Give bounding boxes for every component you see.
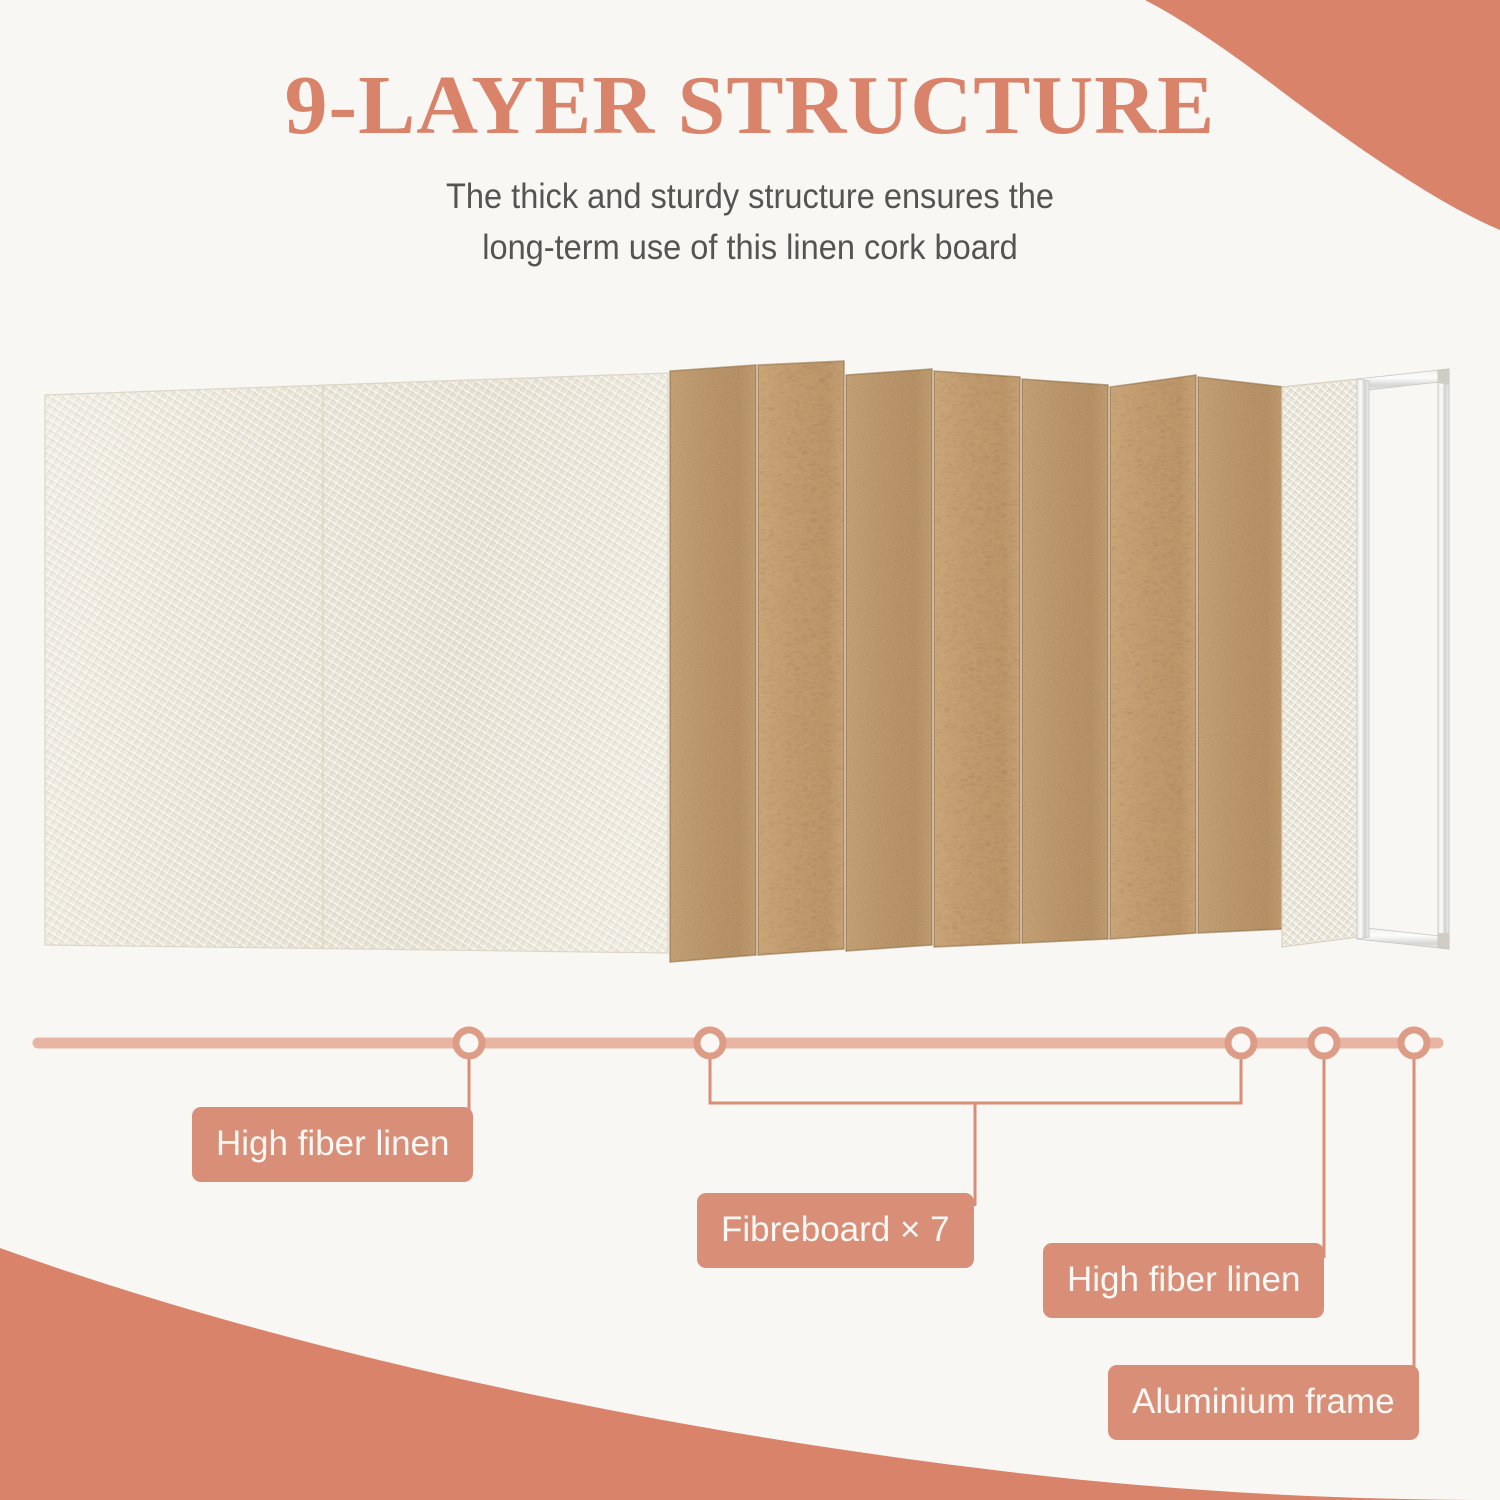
callout-group: High fiber linen Fibreboard × 7 High fib… — [0, 990, 1500, 1460]
callout-marker-fibreboard-start[interactable] — [697, 1030, 723, 1056]
fibreboard-panel — [758, 361, 844, 955]
page-title: 9-LAYER STRUCTURE — [0, 62, 1500, 150]
callout-marker-front-linen[interactable] — [456, 1030, 482, 1056]
fibreboard-panel — [846, 369, 932, 951]
fibreboard-panel — [670, 365, 756, 962]
callout-label-fibreboard[interactable]: Fibreboard × 7 — [697, 1193, 974, 1268]
infographic-canvas: 9-LAYER STRUCTURE The thick and sturdy s… — [0, 0, 1500, 1500]
fibreboard-panel — [1110, 375, 1196, 939]
subtitle-line-2: long-term use of this linen cork board — [369, 223, 1132, 274]
fibreboard-panel — [1022, 379, 1108, 943]
callout-label-front-linen[interactable]: High fiber linen — [192, 1107, 473, 1182]
callout-marker-aluminium-frame[interactable] — [1401, 1030, 1427, 1056]
callout-label-aluminium-frame[interactable]: Aluminium frame — [1108, 1365, 1419, 1440]
fibreboard-panel — [1198, 377, 1284, 933]
header: 9-LAYER STRUCTURE The thick and sturdy s… — [0, 62, 1500, 274]
layer-front-linen — [40, 355, 680, 975]
layer-aluminium-frame — [1345, 355, 1465, 975]
callout-marker-back-linen[interactable] — [1311, 1030, 1337, 1056]
layer-stack-diagram — [0, 355, 1500, 975]
fibreboard-panel — [934, 371, 1020, 947]
callout-label-back-linen[interactable]: High fiber linen — [1043, 1243, 1324, 1318]
subtitle-line-1: The thick and sturdy structure ensures t… — [369, 172, 1132, 223]
callout-marker-fibreboard-end[interactable] — [1228, 1030, 1254, 1056]
page-subtitle: The thick and sturdy structure ensures t… — [369, 172, 1132, 274]
connector-fibreboard-bracket — [710, 1052, 1241, 1103]
